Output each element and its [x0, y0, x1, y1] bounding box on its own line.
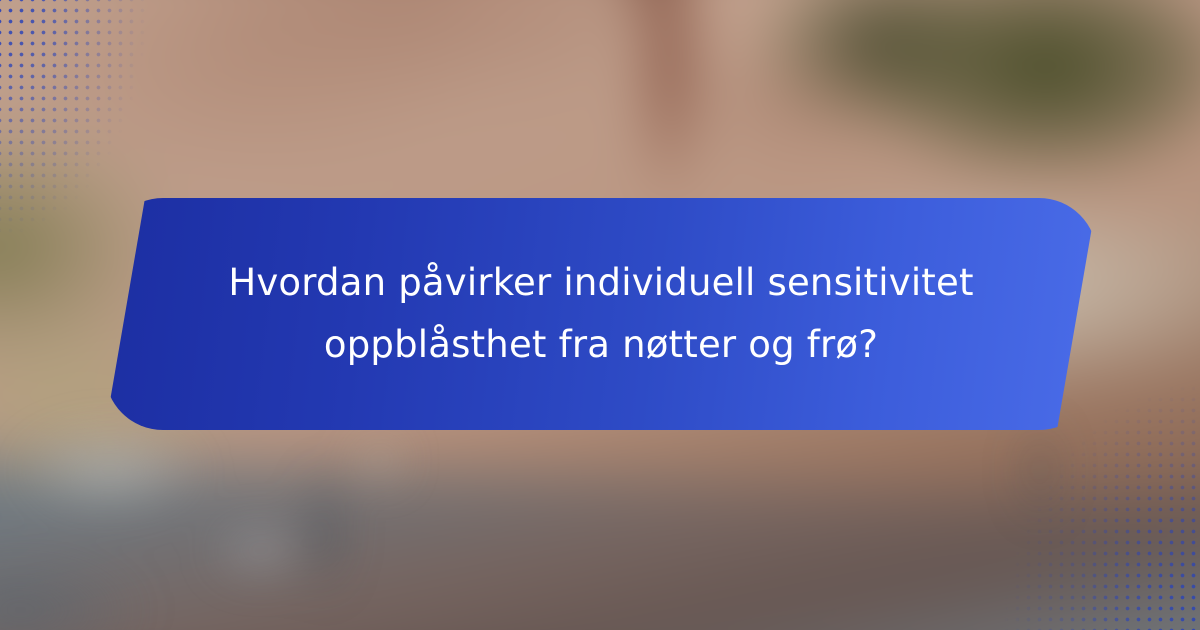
- question-line-2: oppblåsthet fra nøtter og frø?: [324, 323, 878, 367]
- question-card-text: Hvordan påvirker individuell sensitivite…: [105, 198, 1097, 430]
- question-card-wrapper: Hvordan påvirker individuell sensitivite…: [0, 0, 1200, 630]
- question-line-1: Hvordan påvirker individuell sensitivite…: [228, 261, 973, 305]
- social-card-canvas: Hvordan påvirker individuell sensitivite…: [0, 0, 1200, 630]
